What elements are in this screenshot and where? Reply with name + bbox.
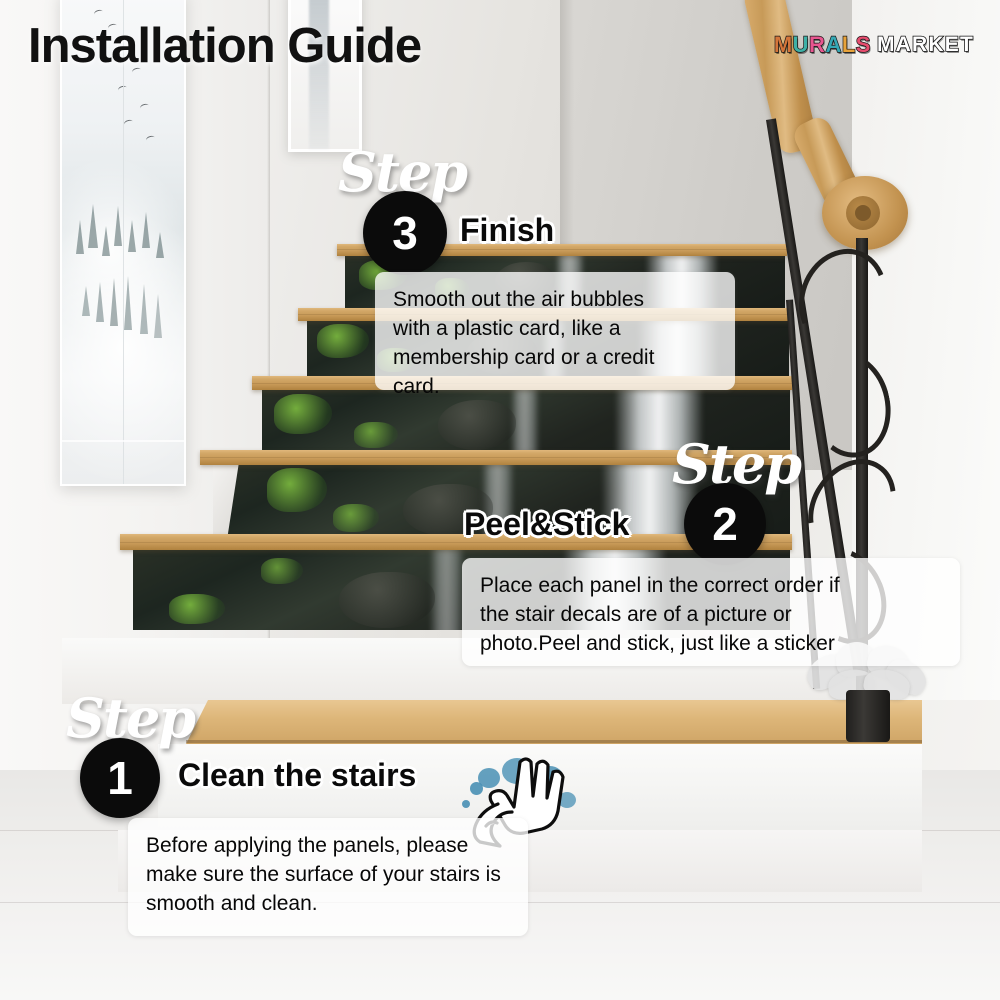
logo-letter: L (842, 32, 856, 58)
logo-letter: R (809, 32, 825, 58)
bird-icon (139, 103, 149, 111)
page-title: Installation Guide (28, 18, 421, 74)
bird-icon (145, 135, 155, 143)
logo-letter: M (774, 32, 793, 58)
logo-letter: S (856, 32, 871, 58)
step-1-line: Before applying the panels, (146, 834, 401, 857)
installation-guide-poster: Installation Guide M U R A L S MARKET St… (0, 0, 1000, 1000)
bottom-tread-nosing (186, 740, 922, 743)
step-1-text-panel: Before applying the panels, please make … (128, 818, 528, 936)
step-2-line: Place each panel in the correct order if (480, 572, 942, 601)
newel-post-base (846, 690, 890, 742)
logo-murals-text: M U R A L S (774, 32, 871, 58)
step-2-line: photo.Peel and stick, just like a sticke… (480, 630, 942, 659)
bottom-landing-tread (186, 700, 922, 744)
step-3-line: with a plastic card, like a (393, 315, 717, 344)
brand-logo[interactable]: M U R A L S MARKET (774, 32, 974, 58)
step-3-text-panel: Smooth out the air bubbles with a plasti… (375, 272, 735, 390)
bird-icon (123, 119, 133, 127)
step-2-text-panel: Place each panel in the correct order if… (462, 558, 960, 666)
logo-letter: A (825, 32, 841, 58)
step-1-title: Clean the stairs (178, 757, 416, 794)
step-3-line: card. (393, 373, 717, 402)
step-2-line: the stair decals are of a picture or (480, 601, 942, 630)
bird-icon (93, 9, 103, 17)
step-3-title: Finish (460, 212, 554, 249)
logo-market-text: MARKET (877, 33, 974, 57)
step-2-title: Peel&Stick (464, 506, 629, 543)
step-1-number-badge: 1 (80, 738, 160, 818)
step-2-number-badge: 2 (684, 483, 766, 565)
step-3-line: Smooth out the air bubbles (393, 286, 717, 315)
step-3-number-badge: 3 (363, 191, 447, 275)
logo-letter: U (793, 32, 809, 58)
step-3-line: membership card or a credit (393, 344, 717, 373)
